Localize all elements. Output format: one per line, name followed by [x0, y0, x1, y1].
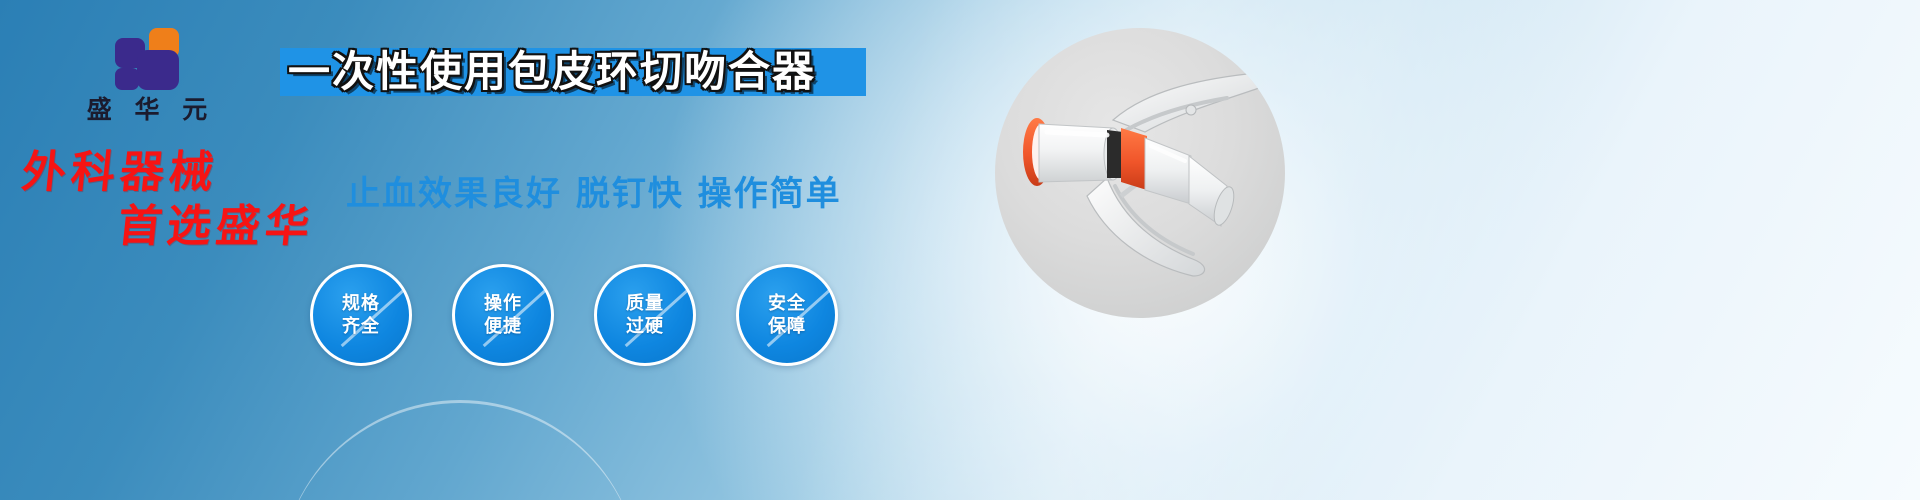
feature-badge-specs[interactable]: 规格 齐全 — [310, 264, 412, 366]
feature-badge-line-1: 质量 — [626, 293, 664, 314]
brand-logo: 盛 华 元 — [62, 28, 232, 124]
feature-badge-label: 操作 便捷 — [484, 292, 522, 338]
calligraphy-line-1: 外科器械 — [20, 150, 365, 196]
feature-badge-list: 规格 齐全 操作 便捷 质量 过硬 安全 保障 — [310, 264, 838, 366]
feature-badge-line-1: 安全 — [768, 293, 806, 314]
promo-banner: 盛 华 元 外科器械 首选盛华 一次性使用包皮环切吻合器 止血效果良好 脱钉快 … — [0, 0, 1920, 500]
feature-badge-line-1: 规格 — [342, 293, 380, 314]
brand-name: 盛 华 元 — [62, 96, 232, 124]
feature-badge-line-2: 便捷 — [484, 316, 522, 337]
feature-badge-safety[interactable]: 安全 保障 — [736, 264, 838, 366]
feature-badge-line-2: 保障 — [768, 316, 806, 337]
feature-badge-operation[interactable]: 操作 便捷 — [452, 264, 554, 366]
feature-badge-label: 规格 齐全 — [342, 292, 380, 338]
decorative-arc — [280, 400, 640, 500]
feature-badge-label: 质量 过硬 — [626, 292, 664, 338]
feature-badge-quality[interactable]: 质量 过硬 — [594, 264, 696, 366]
feature-badge-line-2: 过硬 — [626, 316, 664, 337]
feature-badge-line-2: 齐全 — [342, 316, 380, 337]
circumcision-stapler-illustration — [995, 28, 1285, 318]
shenghuayuan-blocks-logo-icon — [115, 28, 179, 90]
calligraphy-slogan: 外科器械 首选盛华 — [22, 150, 362, 250]
feature-badge-line-1: 操作 — [484, 293, 522, 314]
calligraphy-line-2: 首选盛华 — [116, 204, 365, 250]
page-title: 一次性使用包皮环切吻合器 — [288, 44, 888, 100]
subtitle: 止血效果良好 脱钉快 操作简单 — [346, 166, 842, 215]
logo-block-bottom — [115, 68, 139, 90]
product-image — [995, 28, 1285, 318]
feature-badge-label: 安全 保障 — [768, 292, 806, 338]
logo-block-main — [137, 50, 179, 90]
